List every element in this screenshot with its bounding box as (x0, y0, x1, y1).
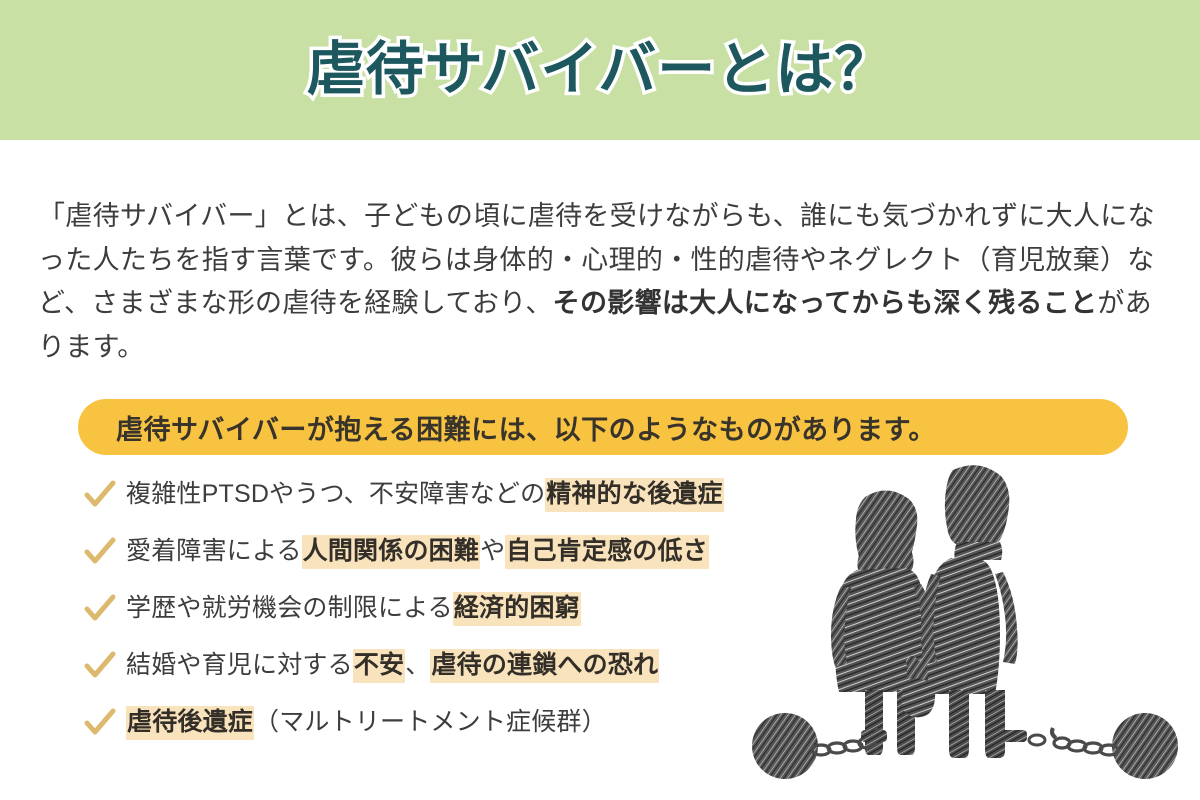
list-item-label: 複雑性PTSDやうつ、不安障害などの精神的な後遺症 (126, 478, 724, 509)
page-title: 虐待サバイバーとは？ (307, 41, 894, 99)
highlighted-phrase: 虐待の連鎖への恐れ (430, 649, 659, 683)
girl-figure (831, 490, 937, 755)
difficulties-banner: 虐待サバイバーが抱える困難には、以下のようなものがあります。 (78, 399, 1128, 455)
highlighted-phrase: 自己肯定感の低さ (505, 535, 709, 569)
difficulties-banner-label: 虐待サバイバーが抱える困難には、以下のようなものがあります。 (116, 408, 936, 447)
check-icon (84, 651, 116, 681)
highlighted-phrase: 経済的困窮 (453, 592, 581, 626)
highlighted-phrase: 虐待後遺症 (126, 706, 254, 740)
check-icon (84, 480, 116, 510)
list-item: 結婚や育児に対する不安、虐待の連鎖への恐れ (84, 649, 804, 706)
highlighted-phrase: 不安 (353, 649, 405, 683)
right-ball-and-chain (1001, 713, 1178, 779)
header-band: 虐待サバイバーとは？ (0, 0, 1200, 140)
list-item: 学歴や就労機会の制限による経済的困窮 (84, 592, 804, 649)
highlighted-phrase: 人間関係の困難 (302, 535, 480, 569)
list-item: 複雑性PTSDやうつ、不安障害などの精神的な後遺症 (84, 478, 804, 535)
plain-phrase: 、 (405, 651, 430, 679)
intro-paragraph: 「虐待サバイバー」とは、子どもの頃に虐待を受けながらも、誰にも気づかれずに大人に… (38, 195, 1168, 370)
check-icon (84, 537, 116, 567)
two-children-with-ball-and-chain-sketch (745, 462, 1185, 792)
list-item-label: 学歴や就労機会の制限による経済的困窮 (126, 592, 581, 623)
check-icon (84, 594, 116, 624)
check-icon (84, 708, 116, 738)
list-item: 愛着障害による人間関係の困難や自己肯定感の低さ (84, 535, 804, 592)
plain-phrase: 複雑性PTSDやうつ、不安障害などの (126, 480, 545, 508)
list-item-label: 愛着障害による人間関係の困難や自己肯定感の低さ (126, 535, 709, 566)
plain-phrase: や (480, 537, 505, 565)
boy-figure (921, 465, 1018, 758)
plain-phrase: 結婚や育児に対する (126, 651, 353, 679)
plain-phrase: 愛着障害による (126, 537, 302, 565)
list-item-label: 虐待後遺症（マルトリートメント症候群） (126, 706, 607, 737)
plain-phrase: 学歴や就労機会の制限による (126, 594, 453, 622)
intro-emphasis: その影響は大人になってからも深く残ること (553, 288, 1098, 318)
difficulties-list: 複雑性PTSDやうつ、不安障害などの精神的な後遺症愛着障害による人間関係の困難や… (84, 478, 804, 763)
list-item: 虐待後遺症（マルトリートメント症候群） (84, 706, 804, 763)
list-item-label: 結婚や育児に対する不安、虐待の連鎖への恐れ (126, 649, 659, 680)
plain-phrase: （マルトリートメント症候群） (254, 708, 607, 736)
highlighted-phrase: 精神的な後遺症 (545, 478, 723, 512)
